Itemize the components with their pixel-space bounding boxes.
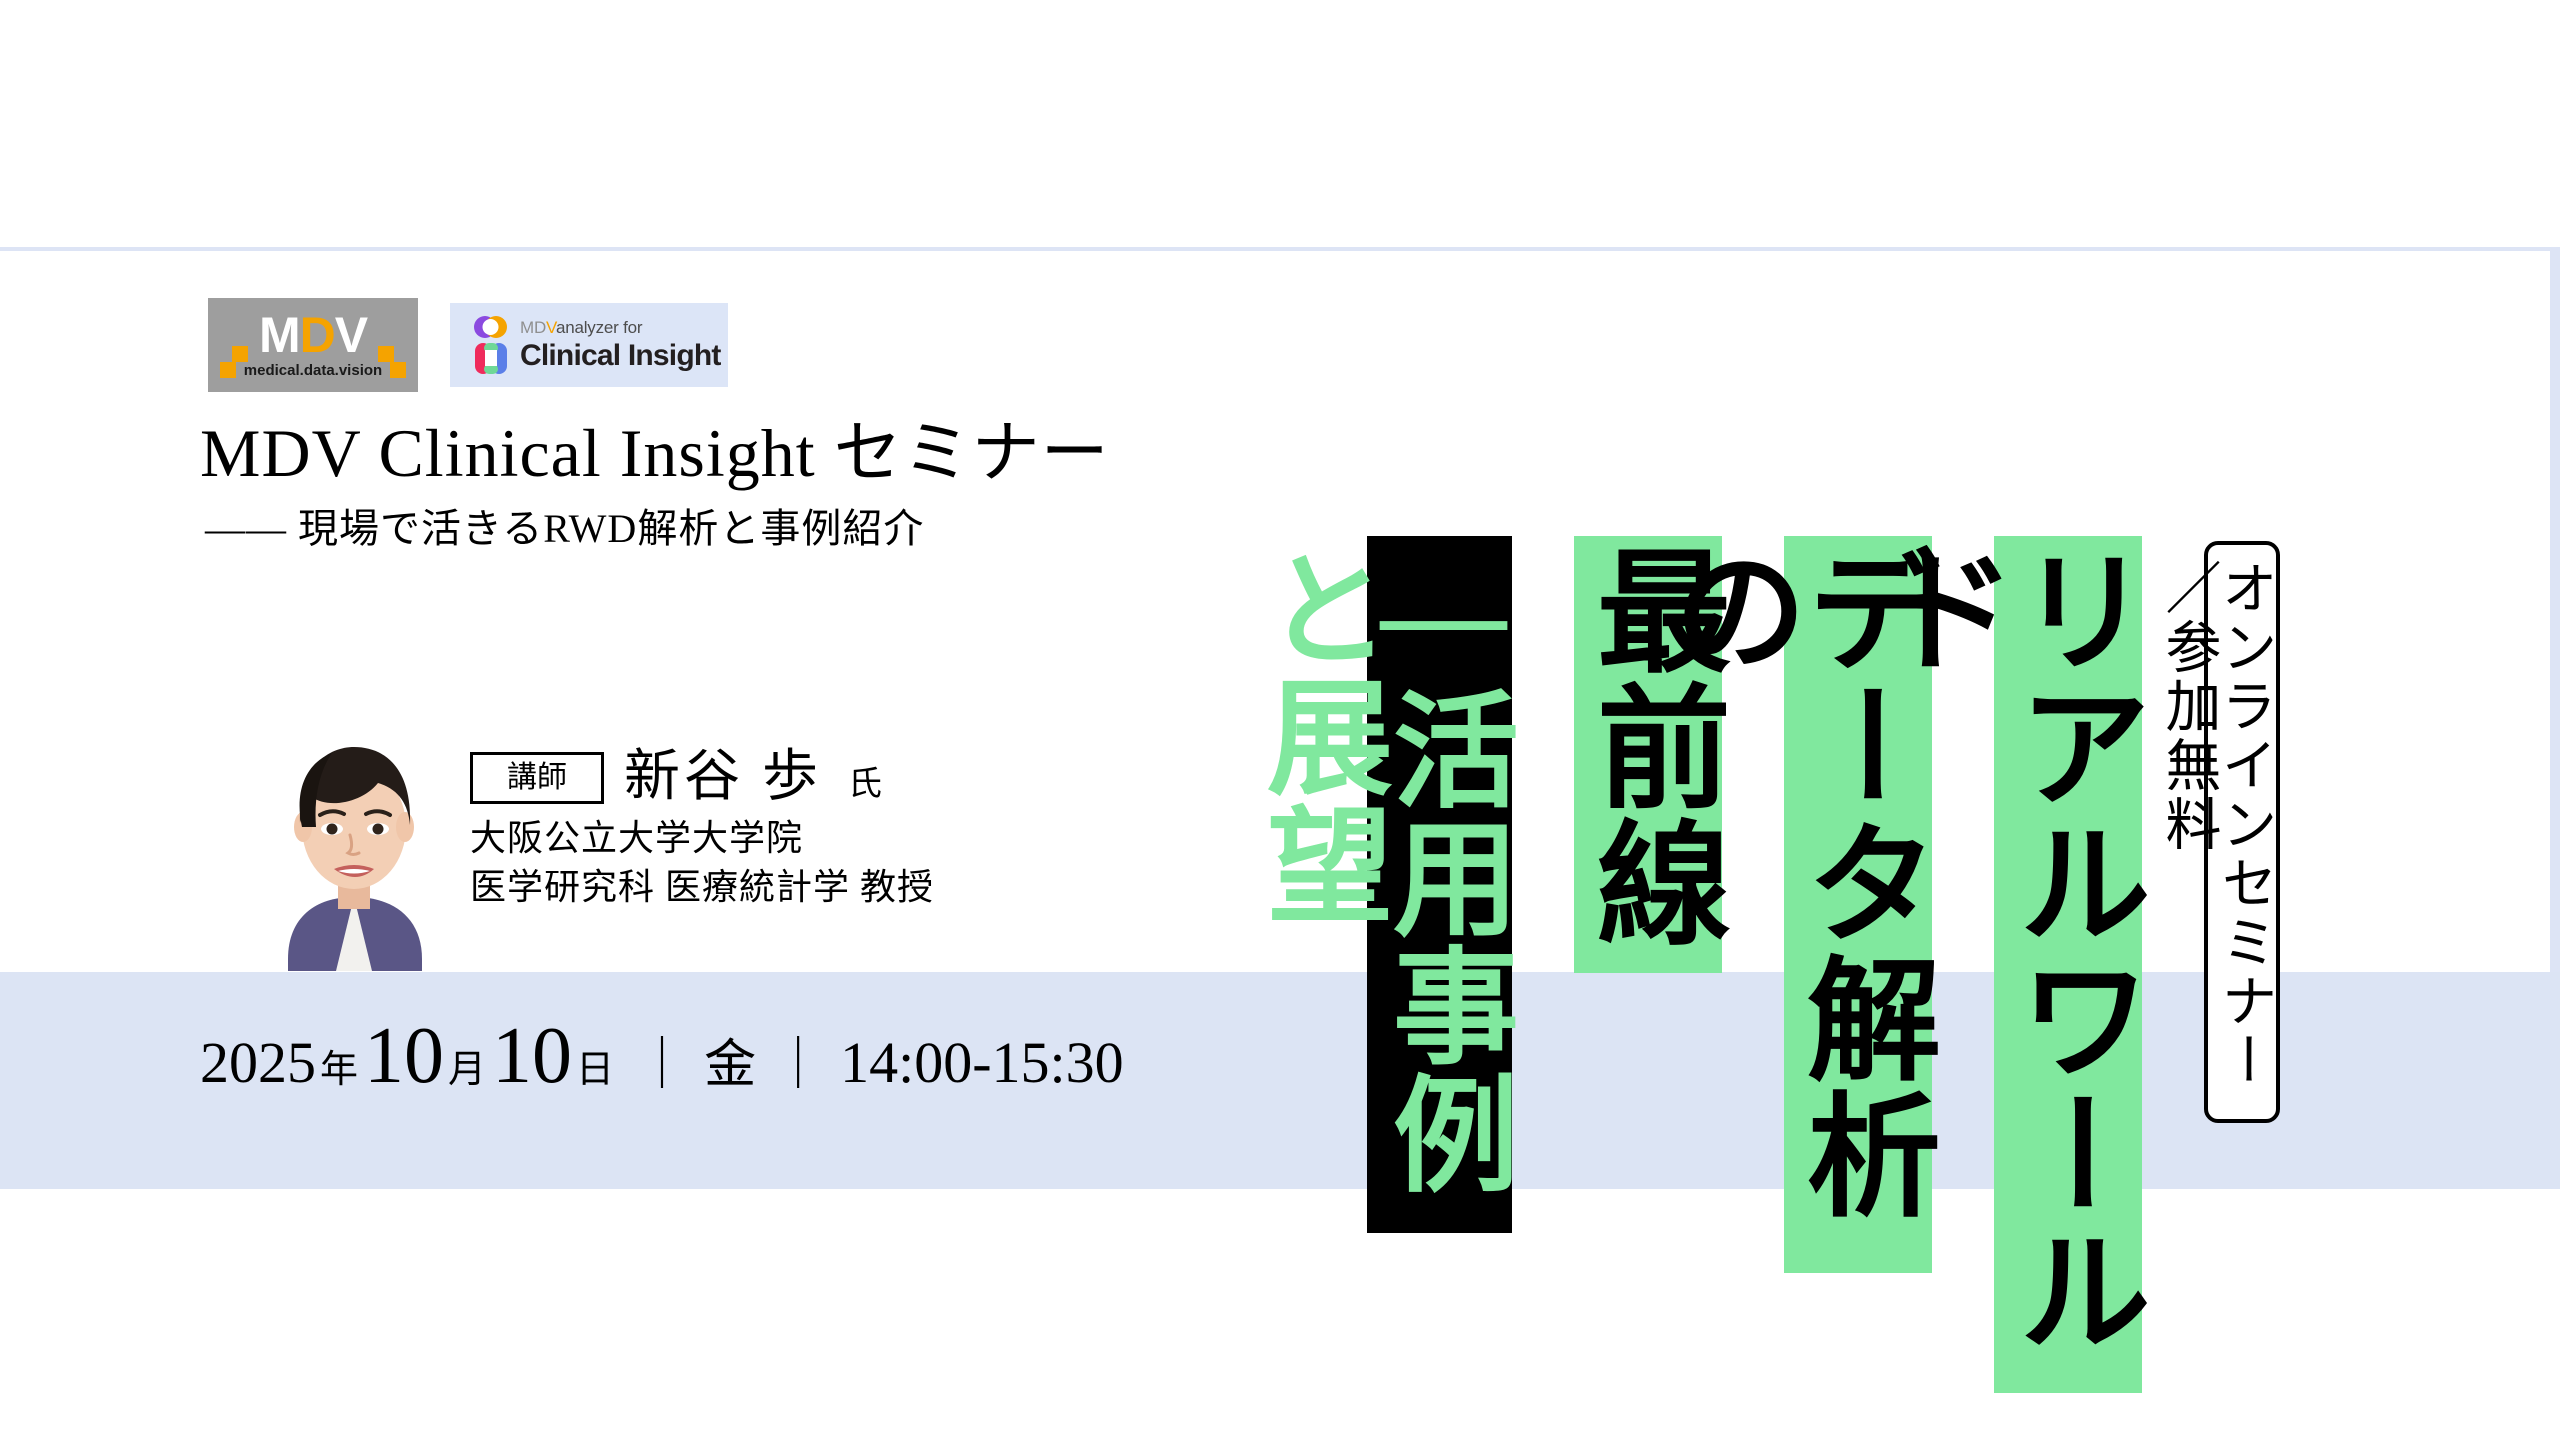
schedule-month-unit: 月 bbox=[448, 1051, 486, 1089]
clinical-insight-label: Clinical Insight bbox=[520, 341, 721, 371]
speaker-affiliation-line-2: 医学研究科 医療統計学 教授 bbox=[470, 865, 934, 910]
schedule-day-unit: 日 bbox=[576, 1051, 614, 1089]
speaker-honorific: 氏 bbox=[848, 756, 882, 805]
speaker-portrait bbox=[258, 731, 450, 971]
speaker-affiliation-line-1: 大阪公立大学大学院 bbox=[470, 816, 934, 861]
capsule-mark-icon bbox=[472, 314, 510, 376]
schedule-weekday: 金 bbox=[704, 1040, 756, 1092]
speaker-portrait-image bbox=[258, 731, 450, 971]
schedule-day: 10 bbox=[492, 1016, 572, 1096]
mdvanalyzer-label: MDVanalyzer for bbox=[520, 319, 721, 336]
speaker-role-badge: 講師 bbox=[470, 752, 604, 804]
schedule-time: 14:00-15:30 bbox=[840, 1034, 1124, 1092]
schedule-year: 2025 bbox=[200, 1034, 316, 1092]
online-free-badge: オンラインセミナー／参加無料 bbox=[2204, 541, 2280, 1123]
logo-row: MDV medical.data.vision bbox=[208, 298, 728, 392]
speaker-info: 講師 新谷 歩 氏 大阪公立大学大学院 医学研究科 医療統計学 教授 bbox=[470, 749, 934, 910]
mdv-square-decor-2 bbox=[220, 362, 236, 378]
schedule-year-unit: 年 bbox=[320, 1051, 358, 1089]
page-subtitle: —— 現場で活きるRWD解析と事例紹介 bbox=[205, 509, 924, 549]
speaker-name-row: 講師 新谷 歩 氏 bbox=[470, 749, 934, 812]
schedule-separator-2: ｜ bbox=[772, 1040, 824, 1092]
mdv-square-decor-1 bbox=[232, 346, 248, 362]
date-band: 2025 年 10 月 10 日 ｜ 金 ｜ 14:00-15:30 bbox=[0, 972, 2560, 1189]
headline-panel-usecases: ―活用事例と展望 bbox=[1367, 536, 1512, 1233]
headline-panel-realworld: リアルワールド bbox=[1994, 536, 2142, 1393]
mdv-tagline: medical.data.vision bbox=[208, 362, 418, 379]
clinical-insight-text: MDVanalyzer for Clinical Insight bbox=[520, 319, 721, 371]
seminar-banner: MDV medical.data.vision bbox=[0, 247, 2560, 1185]
mdv-square-decor-3 bbox=[378, 346, 394, 362]
schedule-text: 2025 年 10 月 10 日 ｜ 金 ｜ 14:00-15:30 bbox=[200, 1016, 1124, 1096]
page-title: MDV Clinical Insight セミナー bbox=[200, 419, 1110, 487]
schedule-month: 10 bbox=[364, 1016, 444, 1096]
speaker-name: 新谷 歩 bbox=[624, 749, 822, 805]
clinical-insight-logo: MDVanalyzer for Clinical Insight bbox=[450, 303, 728, 387]
schedule-separator-1: ｜ bbox=[636, 1040, 688, 1092]
mdv-logo: MDV medical.data.vision bbox=[208, 298, 418, 392]
mdv-square-decor-4 bbox=[390, 362, 406, 378]
